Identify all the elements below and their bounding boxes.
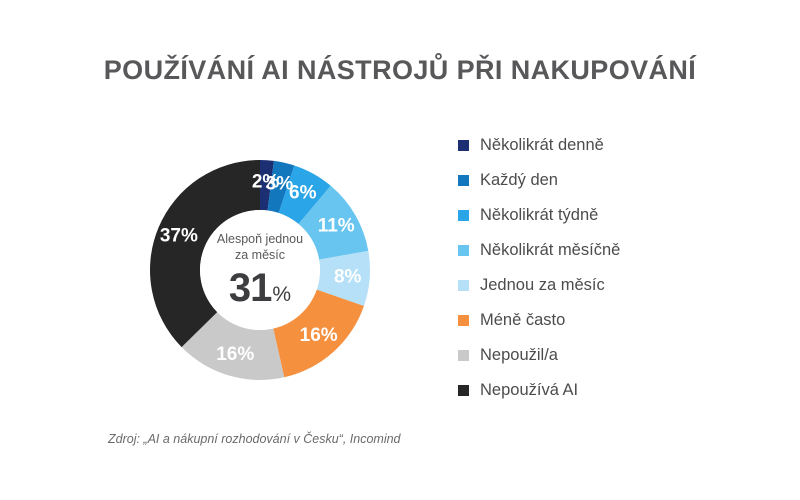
center-caption-line-1: Alespoň jednou: [217, 232, 303, 248]
legend-swatch-icon: [458, 175, 469, 186]
legend-item[interactable]: Několikrát měsíčně: [458, 233, 778, 268]
legend-item-label: Několikrát měsíčně: [480, 241, 620, 260]
slice-value-label: 6%: [289, 183, 317, 204]
center-value-number: 31: [229, 268, 272, 308]
legend-item[interactable]: Nepoužil/a: [458, 338, 778, 373]
center-caption-line-2: za měsíc: [235, 248, 285, 264]
donut-center: Alespoň jednou za měsíc 31 %: [200, 210, 320, 330]
legend-item-label: Několikrát denně: [480, 136, 604, 155]
legend-item-label: Každý den: [480, 171, 558, 190]
legend-item[interactable]: Nepoužívá AI: [458, 373, 778, 408]
center-value-unit: %: [272, 284, 291, 305]
slice-value-label: 37%: [160, 226, 198, 247]
slice-value-label: 16%: [300, 325, 338, 346]
legend-item-label: Nepoužívá AI: [480, 381, 578, 400]
source-note: Zdroj: „AI a nákupní rozhodování v Česku…: [108, 432, 401, 446]
legend-item[interactable]: Jednou za měsíc: [458, 268, 778, 303]
legend-swatch-icon: [458, 210, 469, 221]
legend-swatch-icon: [458, 350, 469, 361]
legend-swatch-icon: [458, 315, 469, 326]
legend-item-label: Jednou za měsíc: [480, 276, 605, 295]
legend: Několikrát denněKaždý denNěkolikrát týdn…: [458, 128, 778, 408]
legend-swatch-icon: [458, 385, 469, 396]
center-value: 31 %: [229, 268, 291, 308]
legend-item[interactable]: Několikrát denně: [458, 128, 778, 163]
legend-item[interactable]: Méně často: [458, 303, 778, 338]
legend-swatch-icon: [458, 280, 469, 291]
legend-item[interactable]: Několikrát týdně: [458, 198, 778, 233]
legend-swatch-icon: [458, 245, 469, 256]
legend-item-label: Nepoužil/a: [480, 346, 558, 365]
page-title: POUŽÍVÁNÍ AI NÁSTROJŮ PŘI NAKUPOVÁNÍ: [0, 55, 800, 86]
donut-chart: 2%3%6%11%8%16%16%37% Alespoň jednou za m…: [150, 160, 370, 380]
legend-swatch-icon: [458, 140, 469, 151]
legend-item-label: Několikrát týdně: [480, 206, 598, 225]
slice-value-label: 8%: [334, 266, 362, 287]
slice-value-label: 11%: [318, 216, 355, 237]
legend-item[interactable]: Každý den: [458, 163, 778, 198]
slice-value-label: 16%: [216, 344, 254, 365]
legend-item-label: Méně často: [480, 311, 565, 330]
